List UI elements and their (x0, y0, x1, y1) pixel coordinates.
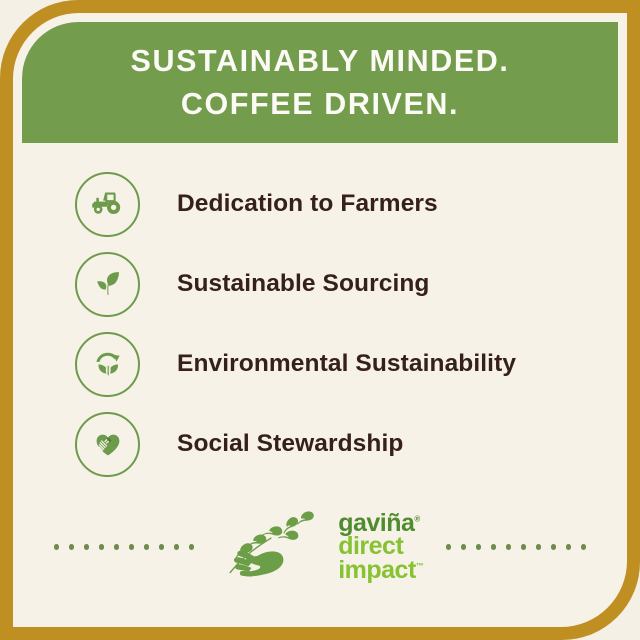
feature-row-environmental-sustainability: Environmental Sustainability (22, 324, 618, 404)
logo-wordmark: gaviña® direct impact™ (338, 512, 424, 582)
recycle-leaves-icon (88, 344, 128, 384)
dot (521, 544, 527, 550)
gavina-direct-impact-logo: gaviña® direct impact™ (222, 499, 424, 596)
registered-mark-icon: ® (414, 515, 420, 524)
leaves-icon (88, 264, 128, 304)
logo-word-impact: impact™ (338, 559, 424, 582)
dot (54, 544, 60, 550)
header-line-1: SUSTAINABLY MINDED. (131, 40, 510, 82)
dot (69, 544, 75, 550)
dot (99, 544, 105, 550)
dot (144, 544, 150, 550)
feature-row-social-stewardship: Social Stewardship (22, 404, 618, 484)
dot (129, 544, 135, 550)
feature-label: Social Stewardship (177, 430, 403, 458)
dot (476, 544, 482, 550)
header-line-2: COFFEE DRIVEN. (181, 83, 459, 125)
dotted-divider-left (54, 544, 195, 550)
card-panel: SUSTAINABLY MINDED. COFFEE DRIVEN. (22, 22, 618, 618)
header-banner: SUSTAINABLY MINDED. COFFEE DRIVEN. (22, 22, 618, 143)
dot (536, 544, 542, 550)
dot (189, 544, 195, 550)
feature-row-sustainable-sourcing: Sustainable Sourcing (22, 244, 618, 324)
dot (446, 544, 452, 550)
feature-row-dedication-to-farmers: Dedication to Farmers (22, 164, 618, 244)
dot (114, 544, 120, 550)
hand-holding-plant-icon (222, 499, 334, 596)
handshake-heart-icon (88, 424, 128, 464)
feature-icon-badge (75, 172, 140, 237)
dot (566, 544, 572, 550)
feature-label: Dedication to Farmers (177, 190, 438, 218)
feature-label: Sustainable Sourcing (177, 270, 430, 298)
feature-icon-badge (75, 332, 140, 397)
dot (491, 544, 497, 550)
dotted-divider-right (446, 544, 587, 550)
dot (551, 544, 557, 550)
dot (159, 544, 165, 550)
dot (461, 544, 467, 550)
feature-list: Dedication to Farmers Sustainable Sourci… (22, 143, 618, 484)
tractor-icon (88, 184, 128, 224)
feature-icon-badge (75, 412, 140, 477)
dot (506, 544, 512, 550)
feature-icon-badge (75, 252, 140, 317)
logo-word-gavina: gaviña® (338, 512, 424, 535)
dot (174, 544, 180, 550)
promo-card: SUSTAINABLY MINDED. COFFEE DRIVEN. (0, 0, 640, 640)
footer-logo-area: gaviña® direct impact™ (22, 477, 618, 617)
dot (84, 544, 90, 550)
feature-label: Environmental Sustainability (177, 350, 516, 378)
trademark-mark-icon: ™ (416, 561, 424, 570)
dot (581, 544, 587, 550)
